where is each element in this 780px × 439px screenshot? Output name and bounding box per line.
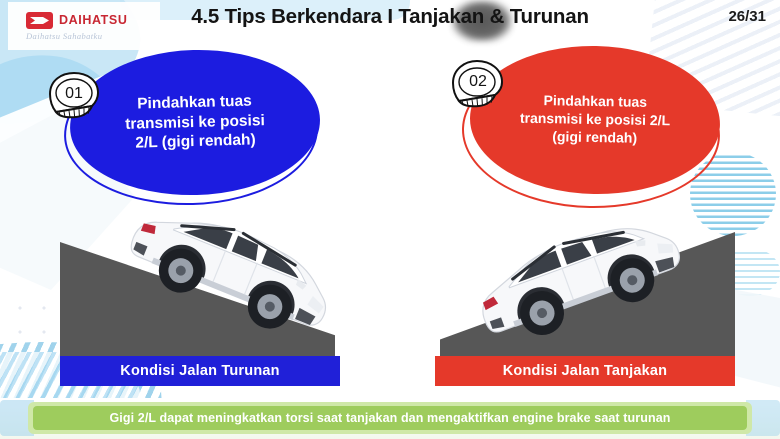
logo-tagline-text: Daihatsu Sahabatku xyxy=(26,31,160,41)
footer-banner-area: Gigi 2/L dapat meningkatkan torsi saat t… xyxy=(0,398,780,439)
illustration-panel-uphill: Kondisi Jalan Tanjakan xyxy=(430,196,735,392)
slide-canvas: DAIHATSU Daihatsu Sahabatku 4.5 Tips Ber… xyxy=(0,0,780,439)
footer-note: Gigi 2/L dapat meningkatkan torsi saat t… xyxy=(33,406,747,430)
bubble-text-step-1: Pindahkan tuas transmisi ke posisi 2/L (… xyxy=(124,91,265,154)
page-number: 26/31 xyxy=(728,8,766,25)
bubble-text-step-2: Pindahkan tuas transmisi ke posisi 2/L (… xyxy=(519,92,670,148)
step-badge-02: 02 xyxy=(450,60,506,110)
page-title: 4.5 Tips Berkendara I Tanjakan & Turunan xyxy=(0,5,780,29)
step-badge-01: 01 xyxy=(46,72,102,122)
step-badge-02-label: 02 xyxy=(450,60,506,104)
caption-uphill: Kondisi Jalan Tanjakan xyxy=(435,356,735,386)
step-badge-01-label: 01 xyxy=(46,72,102,116)
illustration-panel-downhill: Kondisi Jalan Turunan xyxy=(60,196,360,392)
caption-downhill: Kondisi Jalan Turunan xyxy=(60,356,340,386)
